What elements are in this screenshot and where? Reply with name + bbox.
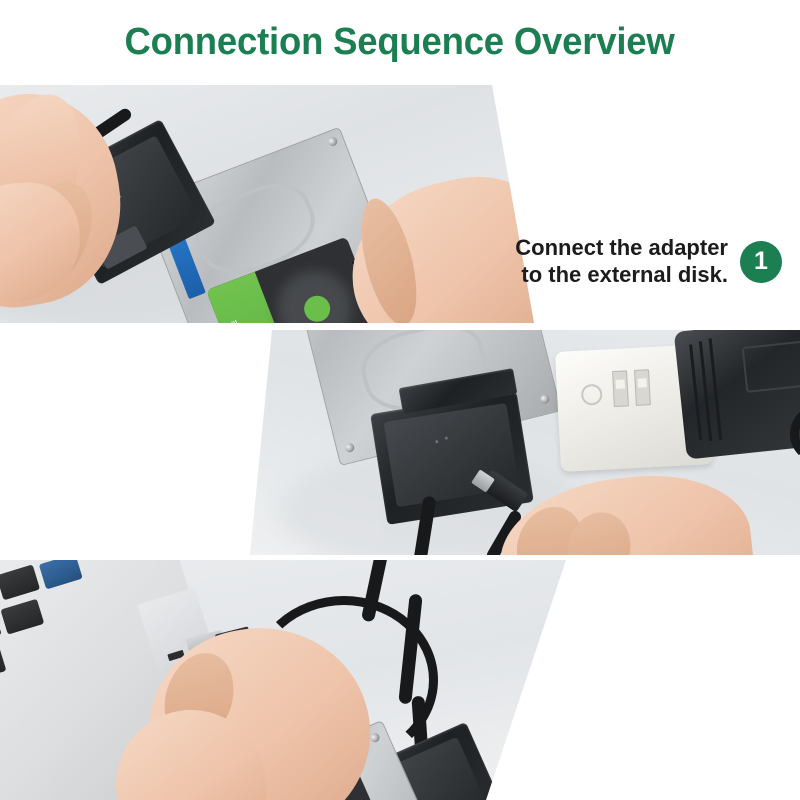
usb-port [612, 370, 629, 407]
connection-sequence-infographic: Connection Sequence Overview SEAGATE [0, 0, 800, 800]
step-panel-1: SEAGATE BARRACUDA [0, 85, 800, 323]
step-1-caption: Connect the adapter to the external disk… [515, 235, 782, 289]
step-1-text: Connect the adapter to the external disk… [515, 235, 728, 289]
title-bar: Connection Sequence Overview [0, 0, 800, 85]
step-panel-3: SEAGATE Plug in the USB porton PC/laptop… [0, 560, 800, 800]
step-1-badge: 1 [740, 241, 782, 283]
step-1-photo: SEAGATE BARRACUDA [0, 85, 540, 323]
usb-port [634, 369, 651, 406]
step-3-photo: SEAGATE [0, 560, 570, 800]
step-panel-2: 2 Connect to the power supply. Note: DC … [0, 330, 800, 555]
step-2-photo [250, 330, 800, 555]
power-adapter-brick [674, 330, 800, 459]
page-title: Connection Sequence Overview [125, 21, 675, 64]
